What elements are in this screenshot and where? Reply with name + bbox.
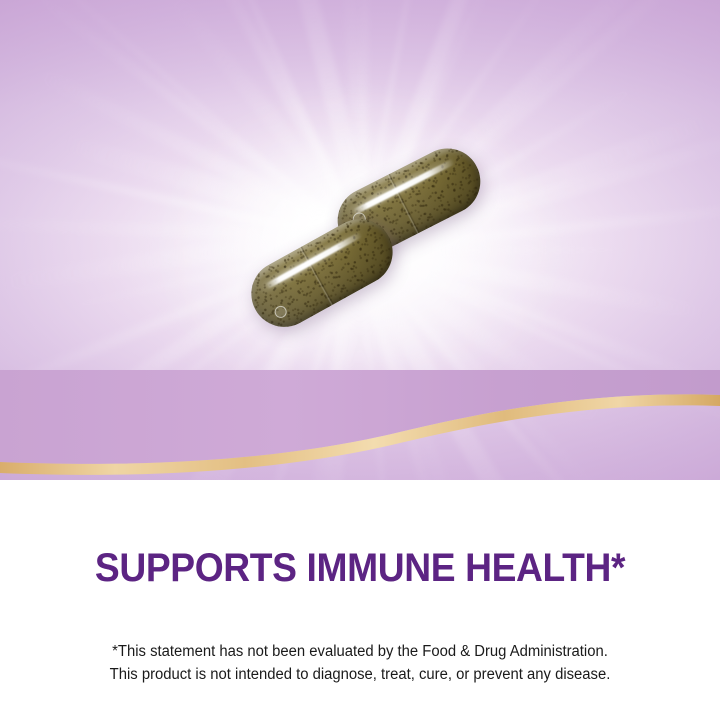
capsule-powder-texture [240, 207, 405, 338]
starburst-ray [61, 133, 366, 240]
capsule-lower [240, 207, 405, 338]
capsule-soft-sheen [255, 227, 367, 296]
capsule-cap-shoulder [240, 247, 333, 339]
hero-section [0, 0, 720, 480]
starburst-ray [0, 215, 360, 243]
starburst-ray [356, 245, 720, 398]
capsule-specular-highlight [352, 158, 455, 215]
starburst-ray [26, 0, 366, 245]
starburst-ray [4, 0, 363, 248]
starburst-ray [354, 246, 627, 480]
page-headline: SUPPORTS IMMUNE HEALTH* [25, 548, 695, 588]
starburst-ray [351, 244, 611, 481]
disclaimer-line-1: *This statement has not been evaluated b… [11, 640, 709, 663]
starburst-ray [0, 138, 362, 246]
starburst-ray [357, 242, 707, 321]
capsule-specular-highlight [264, 232, 363, 291]
product-marketing-panel: SUPPORTS IMMUNE HEALTH* *This statement … [0, 0, 720, 720]
starburst-ray [350, 241, 608, 428]
starburst-ray [34, 65, 367, 242]
disclaimer-line-2: This product is not intended to diagnose… [11, 663, 709, 686]
fda-disclaimer: *This statement has not been evaluated b… [11, 640, 709, 686]
starburst-ray [360, 248, 660, 252]
footer-section: SUPPORTS IMMUNE HEALTH* *This statement … [0, 480, 720, 720]
capsule-soft-sheen [342, 154, 458, 221]
capsule-air-bubble [273, 304, 289, 320]
starburst-ray [358, 247, 720, 443]
capsule-joint-line [387, 173, 421, 234]
capsule-joint-line [299, 246, 334, 306]
